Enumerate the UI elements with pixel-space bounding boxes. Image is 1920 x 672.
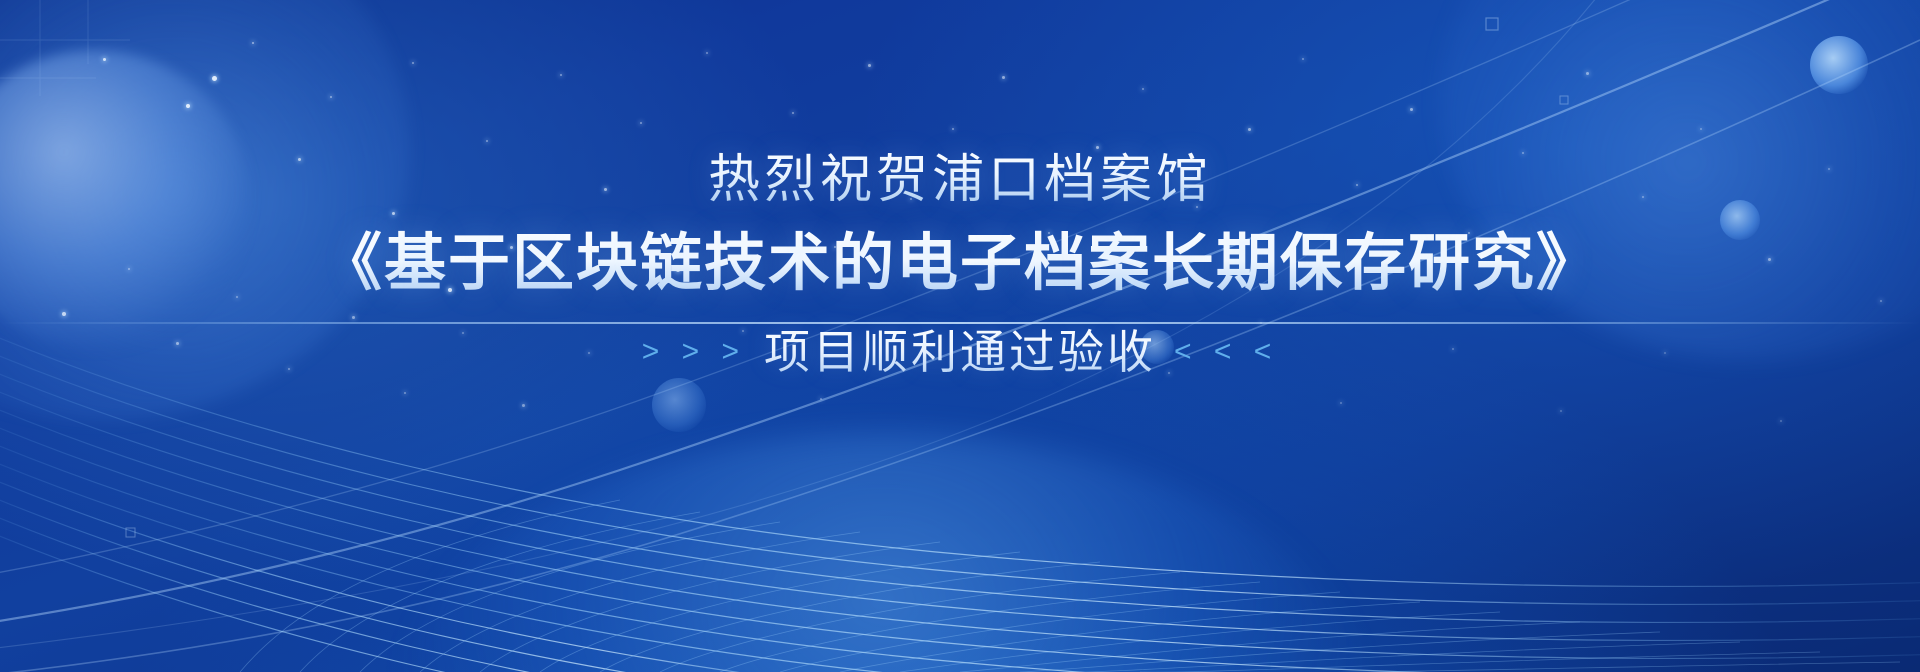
orb-icon-a [1810, 36, 1868, 94]
bottom-glow [393, 432, 1373, 672]
corner-grid-top-left [0, 0, 130, 96]
headline-block: 热烈祝贺浦口档案馆 《基于区块链技术的电子档案长期保存研究》 > > > 项目顺… [0, 148, 1920, 380]
chevron-left-marker-icon: < < < [1174, 337, 1278, 367]
wave-grid-rays [240, 500, 1900, 672]
chevron-right-marker-icon: > > > [642, 337, 746, 367]
corner-grid-top-right [1660, 0, 1920, 150]
promo-banner: 热烈祝贺浦口档案馆 《基于区块链技术的电子档案长期保存研究》 > > > 项目顺… [0, 0, 1920, 672]
headline-line-3: 项目顺利通过验收 [764, 324, 1156, 380]
headline-line-3-row: > > > 项目顺利通过验收 < < < [0, 324, 1920, 380]
bottom-haze [140, 470, 1780, 672]
wave-grid-lines [0, 330, 1920, 672]
orb-icon-c [652, 378, 706, 432]
headline-line-1: 热烈祝贺浦口档案馆 [0, 148, 1920, 212]
headline-line-2: 《基于区块链技术的电子档案长期保存研究》 [0, 226, 1920, 302]
